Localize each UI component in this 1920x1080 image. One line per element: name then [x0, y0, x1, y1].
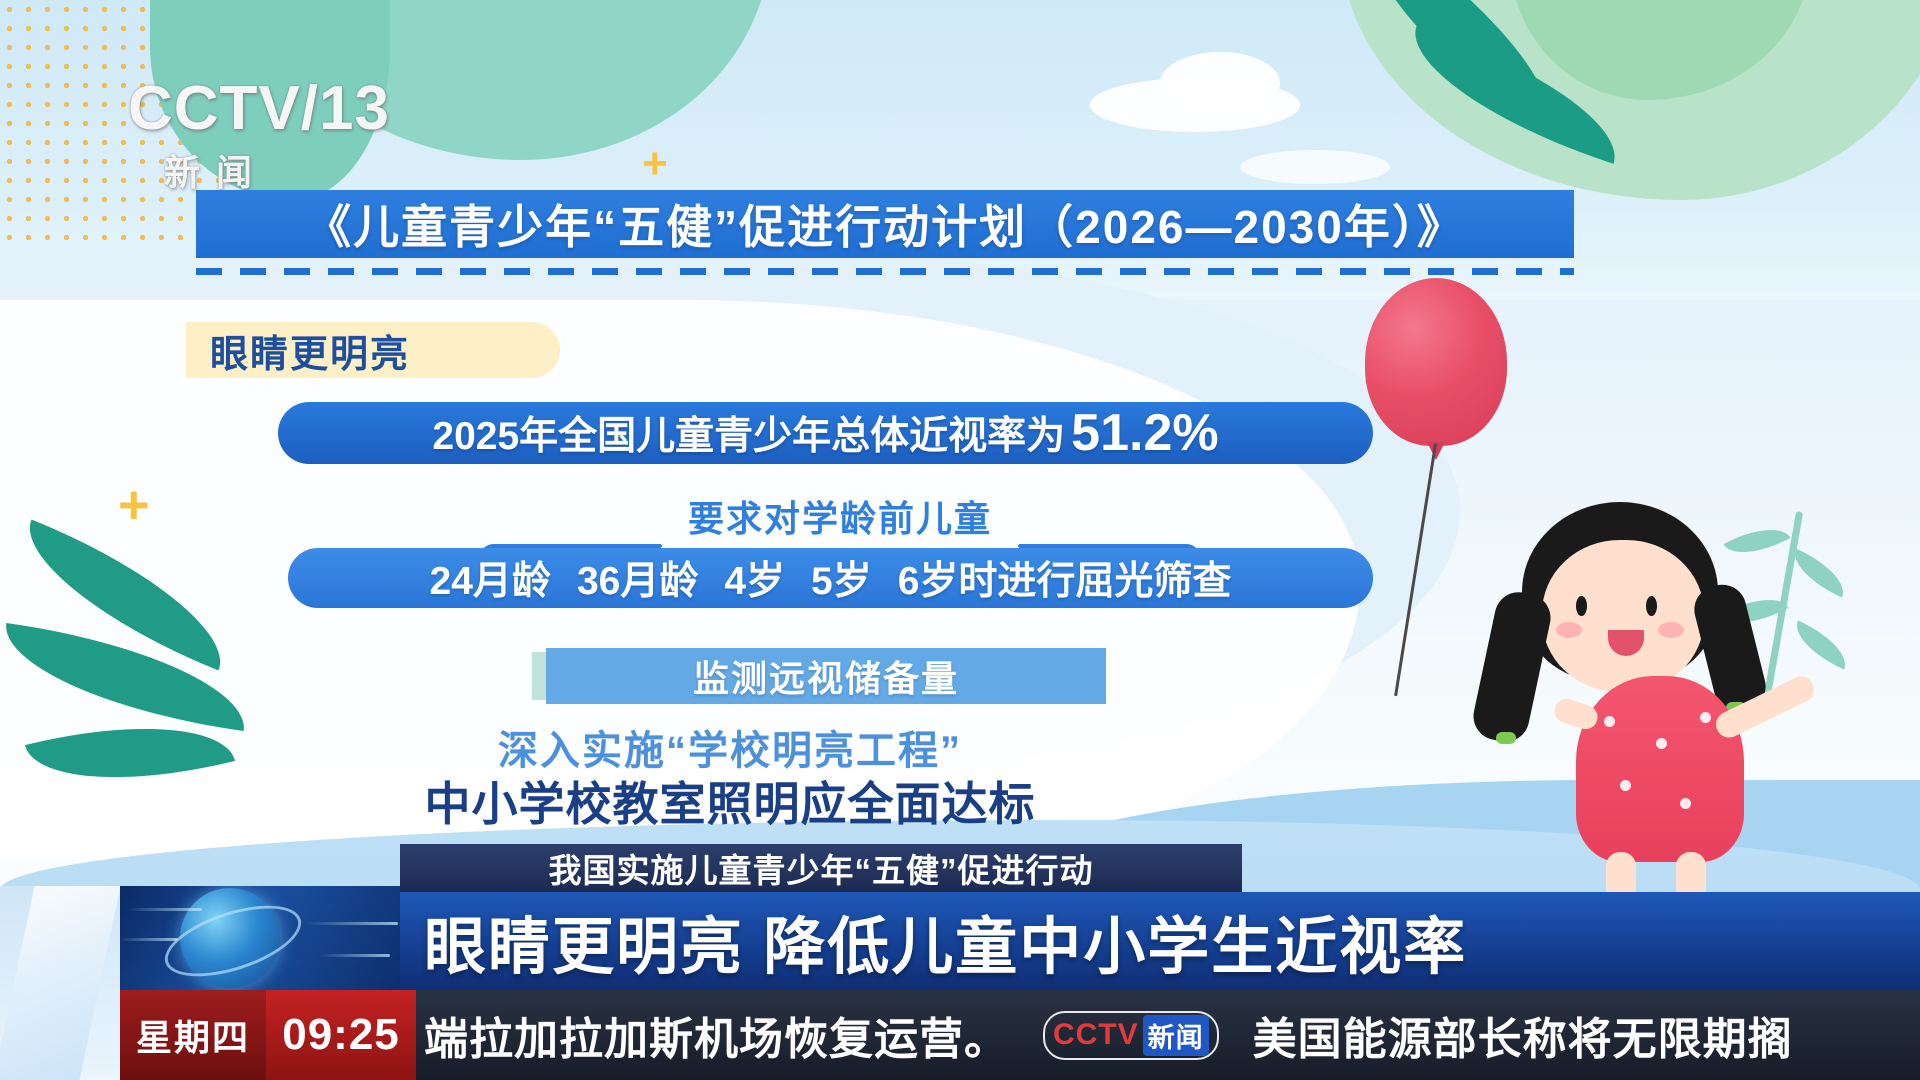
age-item: 36月龄: [577, 550, 698, 606]
statistic-prefix: 2025年全国儿童青少年总体近视率为: [432, 405, 1065, 461]
bracket-label: 要求对学龄前儿童: [500, 490, 1180, 542]
globe-icon: [120, 886, 410, 990]
news-badge-text: 新闻: [1143, 1015, 1209, 1056]
lower-third-headline: 眼睛更明亮 降低儿童中小学生近视率: [400, 892, 1920, 990]
age-item: 5岁: [811, 550, 872, 606]
age-item: 24月龄: [430, 550, 551, 606]
graphic-title-banner: 《儿童青少年“五健”促进行动计划（2026—2030年）》: [196, 190, 1574, 258]
lower-third-side-stripe: [0, 886, 120, 1080]
cloud-icon: [1160, 52, 1280, 114]
balloon-icon: [1365, 278, 1507, 446]
plus-decor-icon: +: [642, 142, 668, 186]
tv-broadcast-screen: + + + CCTV/13 新闻 《儿童青少年“五健”促进行动计划（2: [0, 0, 1920, 1080]
ticker-item: 美国能源部长称将无限期搁: [1253, 1003, 1793, 1067]
ticker-clock: 09:25: [266, 990, 416, 1080]
graphic-dashed-divider: [196, 268, 1574, 275]
ticker-item: 端拉加拉加斯机场恢复运营。: [424, 1003, 1009, 1067]
ticker-scroll-text: 端拉加拉加斯机场恢复运营。 CCTV 新闻 美国能源部长称将无限期搁: [416, 1003, 1920, 1067]
cctv-logo-number: 13: [319, 74, 390, 143]
cctv-logo-text: CCTV: [128, 74, 301, 143]
girl-illustration: [1480, 480, 1910, 900]
lower-third-kicker: 我国实施儿童青少年“五健”促进行动: [400, 844, 1242, 892]
cctv-news-badge: CCTV 新闻: [1043, 1011, 1219, 1060]
age-item: 4岁: [724, 550, 785, 606]
cctv-channel-logo: CCTV/13 新闻: [128, 78, 428, 178]
bracket-group: 要求对学龄前儿童: [500, 490, 1180, 554]
cloud-icon: [1240, 150, 1390, 184]
cctv-logo-sub: 新闻: [164, 144, 428, 196]
age-item: 6岁时进行屈光筛查: [898, 550, 1232, 606]
age-screening-bar: 24月龄 36月龄 4岁 5岁 6岁时进行屈光筛查: [288, 548, 1373, 608]
subheading-dark: 中小学校教室照明应全面达标: [0, 768, 1460, 834]
news-ticker: 星期四 09:25 端拉加拉加斯机场恢复运营。 CCTV 新闻 美国能源部长称将…: [120, 990, 1920, 1080]
monitor-bar: 监测远视储备量: [546, 648, 1106, 704]
section-tag: 眼睛更明亮: [186, 322, 560, 378]
statistic-value: 51.2%: [1071, 403, 1218, 463]
statistic-bar: 2025年全国儿童青少年总体近视率为 51.2%: [278, 402, 1373, 464]
plus-decor-icon: +: [118, 478, 150, 532]
cctv-badge-text: CCTV: [1053, 1018, 1139, 1052]
ticker-weekday: 星期四: [120, 990, 266, 1080]
